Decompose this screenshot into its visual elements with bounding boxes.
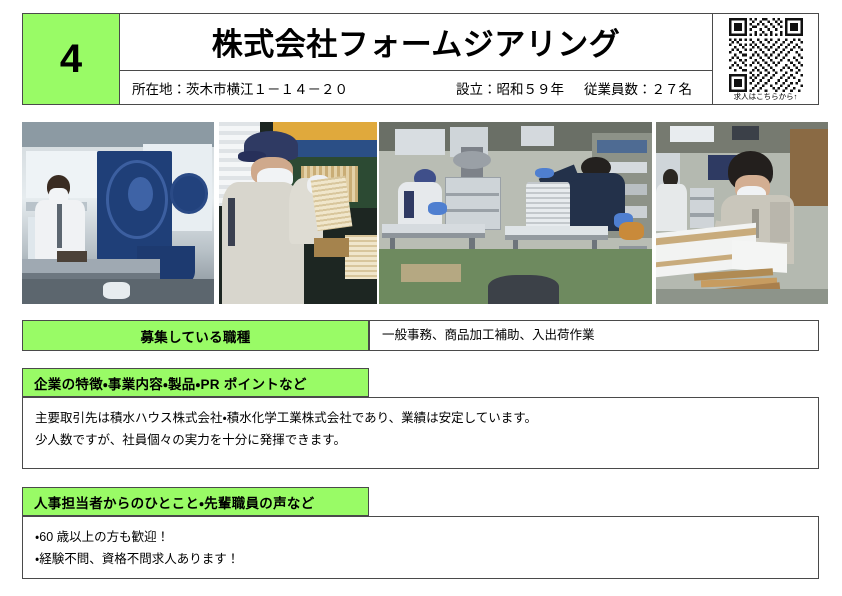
company-employee-count: 従業員数：２７名: [584, 78, 692, 98]
photo-4-scene: [656, 122, 828, 304]
photo-inspection-worker: [219, 122, 377, 304]
photo-strip: [22, 122, 828, 304]
section-box-hr: ・60 歳以上の方も歓迎！ ・経験不問、資格不問求人あります！: [22, 516, 819, 579]
photo-factory-floor: [379, 122, 652, 304]
company-title-row: 株式会社フォームジアリング: [120, 14, 712, 71]
jobs-value: 一般事務、商品加工補助、入出荷作業: [382, 325, 595, 347]
company-number-badge: 4: [23, 14, 120, 104]
photo-bandsaw-worker: [22, 122, 214, 304]
section-jobs-content: 一般事務、商品加工補助、入出荷作業: [370, 321, 818, 350]
qr-code-caption: 求人はこちらから↑: [734, 93, 798, 101]
qr-code-cell[interactable]: 求人はこちらから↑: [712, 14, 818, 104]
document-header: 4 株式会社フォームジアリング 所在地：茨木市横江１－１４－２０ 設立：昭和５９…: [22, 13, 819, 105]
company-meta-row: 所在地：茨木市横江１－１４－２０ 設立：昭和５９年 従業員数：２７名: [120, 71, 712, 104]
photo-2-scene: [219, 122, 377, 304]
section-box-features: 主要取引先は積水ハウス株式会社・積水化学工業株式会社であり、業績は安定しています…: [22, 397, 819, 469]
hr-line: ・60 歳以上の方も歓迎！: [35, 527, 806, 549]
section-box-jobs: 一般事務、商品加工補助、入出荷作業: [369, 320, 819, 351]
company-founded: 設立：昭和５９年: [456, 78, 564, 98]
photo-panel-assembly-worker: [656, 122, 828, 304]
qr-code-icon[interactable]: [727, 18, 805, 92]
hr-line: ・経験不問、資格不問求人あります！: [35, 549, 806, 571]
section-label-hr-text: 人事担当者からのひとこと・先輩職員の声など: [34, 492, 314, 512]
header-center: 株式会社フォームジアリング 所在地：茨木市横江１－１４－２０ 設立：昭和５９年 …: [120, 14, 712, 104]
section-label-jobs-text: 募集している職種: [141, 326, 251, 346]
section-label-features: 企業の特徴・事業内容・製品・PR ポイントなど: [22, 368, 369, 397]
section-label-features-text: 企業の特徴・事業内容・製品・PR ポイントなど: [34, 373, 307, 393]
section-label-jobs: 募集している職種: [22, 320, 369, 351]
company-number: 4: [60, 39, 82, 79]
company-address: 所在地：茨木市横江１－１４－２０: [132, 78, 348, 98]
features-line: 主要取引先は積水ハウス株式会社・積水化学工業株式会社であり、業績は安定しています…: [35, 408, 806, 430]
section-features-content: 主要取引先は積水ハウス株式会社・積水化学工業株式会社であり、業績は安定しています…: [23, 398, 818, 462]
section-label-hr: 人事担当者からのひとこと・先輩職員の声など: [22, 487, 369, 516]
company-name: 株式会社フォームジアリング: [212, 19, 621, 64]
features-line: 少人数ですが、社員個々の実力を十分に発揮できます。: [35, 430, 806, 452]
photo-3-scene: [379, 122, 652, 304]
photo-1-scene: [22, 122, 214, 304]
section-hr-content: ・60 歳以上の方も歓迎！ ・経験不問、資格不問求人あります！: [23, 517, 818, 581]
